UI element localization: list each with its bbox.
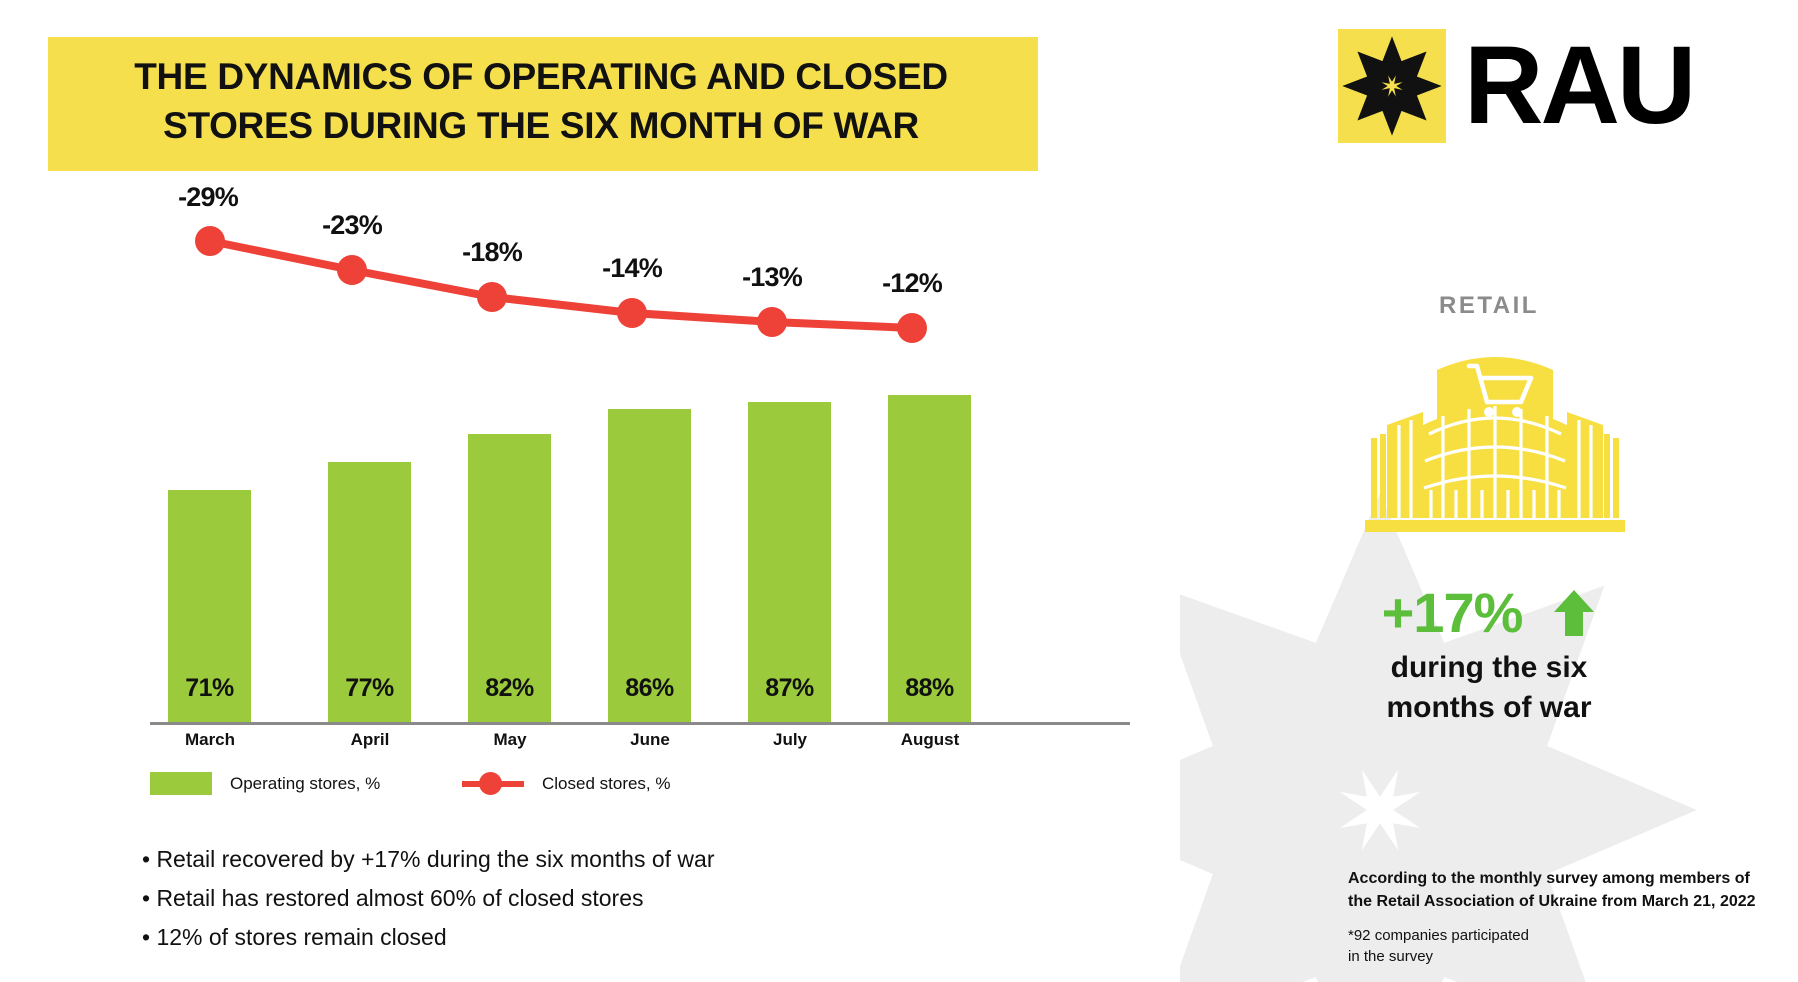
- rau-logo: RAU: [1338, 28, 1693, 144]
- legend-item-closed-stores: Closed stores, %: [462, 772, 671, 795]
- infographic-root: THE DYNAMICS OF OPERATING AND CLOSED STO…: [0, 0, 1798, 982]
- x-tick-june: June: [570, 730, 730, 750]
- growth-indicator: +17%: [1180, 580, 1798, 645]
- summary-bullet-list: • Retail recovered by +17% during the si…: [142, 844, 1042, 961]
- right-panel: RAU RETAIL: [1180, 0, 1798, 982]
- x-tick-april: April: [290, 730, 450, 750]
- footer-note-line-2: in the survey: [1348, 946, 1788, 967]
- arrow-up-icon: [1552, 588, 1596, 638]
- growth-caption-line-1: during the six: [1180, 648, 1798, 688]
- footer-participants: *92 companies participated in the survey: [1348, 925, 1788, 967]
- rau-logo-text: RAU: [1464, 41, 1693, 131]
- line-value-march: -29%: [138, 182, 278, 213]
- x-tick-august: August: [850, 730, 1010, 750]
- growth-percentage: +17%: [1382, 580, 1523, 645]
- x-tick-july: July: [710, 730, 870, 750]
- legend-label-closed: Closed stores, %: [542, 774, 671, 794]
- growth-caption: during the six months of war: [1180, 648, 1798, 727]
- bullet-item-1: • Retail recovered by +17% during the si…: [142, 844, 1042, 875]
- legend-bar-swatch-icon: [150, 772, 212, 795]
- bullet-item-2: • Retail has restored almost 60% of clos…: [142, 883, 1042, 914]
- legend-line-swatch-icon: [462, 772, 524, 795]
- x-tick-march: March: [130, 730, 290, 750]
- line-value-june: -14%: [562, 253, 702, 284]
- plot-region: 71% 77% 82% 86% 87% 88% -29%: [150, 170, 1130, 725]
- bullet-item-3: • 12% of stores remain closed: [142, 922, 1042, 953]
- footer-note: According to the monthly survey among me…: [1348, 868, 1788, 967]
- growth-caption-line-2: months of war: [1180, 688, 1798, 728]
- line-value-august: -12%: [842, 268, 982, 299]
- footer-source-line-2: the Retail Association of Ukraine from M…: [1348, 891, 1788, 914]
- left-panel: THE DYNAMICS OF OPERATING AND CLOSED STO…: [0, 0, 1180, 982]
- footer-source: According to the monthly survey among me…: [1348, 868, 1788, 913]
- rau-star-logo-icon: [1338, 29, 1446, 143]
- x-axis-line: [150, 722, 1130, 725]
- line-value-july: -13%: [702, 262, 842, 293]
- legend-label-operating: Operating stores, %: [230, 774, 380, 794]
- line-value-april: -23%: [282, 210, 422, 241]
- footer-source-line-1: According to the monthly survey among me…: [1348, 868, 1788, 891]
- x-tick-may: May: [430, 730, 590, 750]
- chart-legend: Operating stores, % Closed stores, %: [150, 772, 850, 812]
- retail-section-label: RETAIL: [1180, 292, 1798, 320]
- footer-note-line-1: *92 companies participated: [1348, 925, 1788, 946]
- legend-item-operating-stores: Operating stores, %: [150, 772, 380, 795]
- shopping-mall-icon: [1365, 330, 1625, 545]
- chart-area: 71% 77% 82% 86% 87% 88% -29%: [0, 0, 1180, 790]
- line-value-may: -18%: [422, 237, 562, 268]
